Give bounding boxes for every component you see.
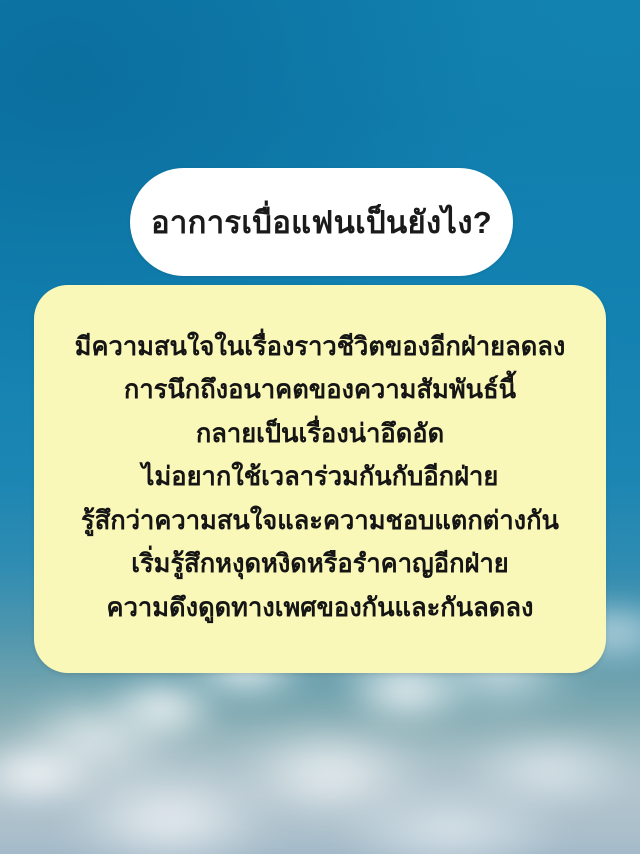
page-title: อาการเบื่อแฟนเป็นยังไง? <box>151 207 492 238</box>
symptom-list-card: มีความสนใจในเรื่องราวชีวิตของอีกฝ่ายลดลง… <box>34 285 606 673</box>
list-item: มีความสนใจในเรื่องราวชีวิตของอีกฝ่ายลดลง <box>75 326 566 370</box>
list-item: กลายเป็นเรื่องน่าอึดอัด <box>196 413 444 457</box>
list-item: เริ่มรู้สึกหงุดหงิดหรือรำคาญอีกฝ่าย <box>131 543 508 587</box>
social-media-image: อาการเบื่อแฟนเป็นยังไง? มีความสนใจในเรื่… <box>0 0 640 854</box>
list-item: การนึกถึงอนาคตของความสัมพันธ์นี้ <box>124 369 516 413</box>
list-item: ความดึงดูดทางเพศของกันและกันลดลง <box>107 587 534 631</box>
list-item: ไม่อยากใช้เวลาร่วมกันกับอีกฝ่าย <box>142 456 499 500</box>
title-card: อาการเบื่อแฟนเป็นยังไง? <box>130 168 513 276</box>
list-item: รู้สึกว่าความสนใจและความชอบแตกต่างกัน <box>81 500 559 544</box>
